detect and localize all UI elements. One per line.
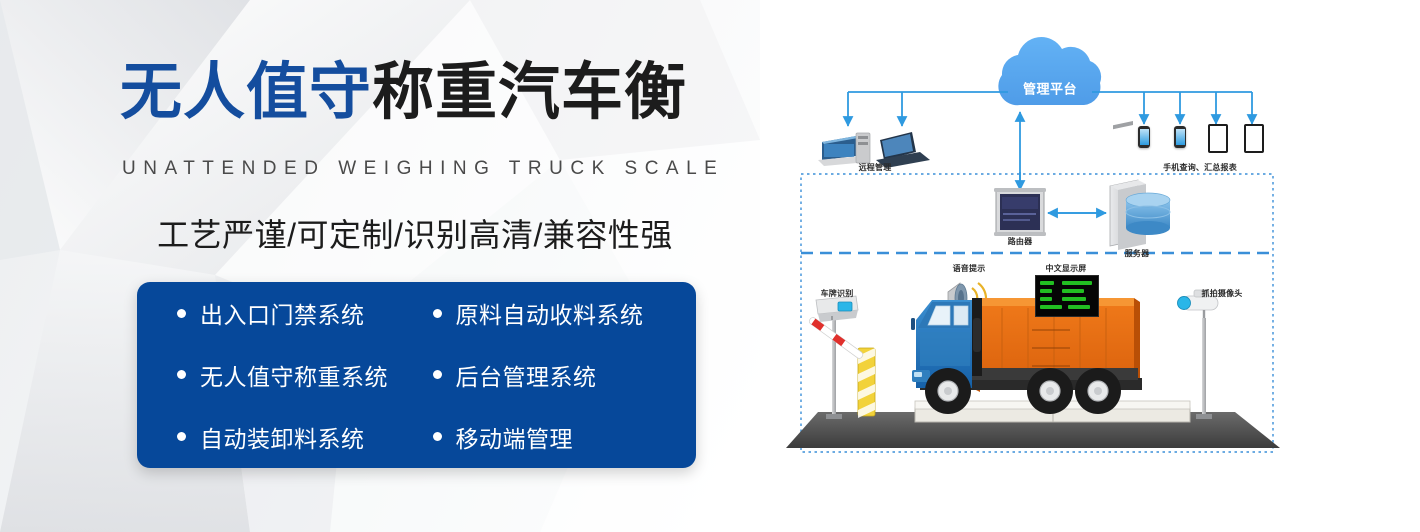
feature-item: 移动端管理 xyxy=(417,406,697,468)
tablet-icon xyxy=(1208,124,1228,153)
page-title: 无人值守称重汽车衡 xyxy=(120,58,687,128)
feature-label: 无人值守称重系统 xyxy=(200,358,388,392)
phone-icon xyxy=(1138,126,1150,148)
feature-label: 自动装卸料系统 xyxy=(200,420,365,454)
router-icon xyxy=(994,188,1046,236)
subtitle-english: UNATTENDED WEIGHING TRUCK SCALE xyxy=(122,158,714,180)
title-highlight: 无人值守 xyxy=(120,58,372,127)
tablet-icon xyxy=(1244,124,1264,153)
tagline: 工艺严谨/可定制/识别高清/兼容性强 xyxy=(120,210,710,256)
feature-label: 移动端管理 xyxy=(456,420,574,454)
dump-truck xyxy=(911,298,1142,414)
feature-item: 出入口门禁系统 xyxy=(137,282,417,344)
unattended-truck-scale-banner: 无人值守称重汽车衡 UNATTENDED WEIGHING TRUCK SCAL… xyxy=(0,0,1420,532)
system-architecture-diagram: 管理平台 远程管理 手机查询、汇总报表 路由器 服务器 车牌识别 语音提示 中文… xyxy=(780,0,1320,532)
label-server: 服务器 xyxy=(1125,248,1150,259)
feature-list-box: 出入口门禁系统 原料自动收料系统 无人值守称重系统 后台管理系统 自动装卸料系统… xyxy=(137,282,696,468)
left-content: 无人值守称重汽车衡 UNATTENDED WEIGHING TRUCK SCAL… xyxy=(0,0,760,532)
bullet-icon xyxy=(433,432,442,441)
label-chinese-display: 中文显示屏 xyxy=(1046,263,1087,274)
feature-item: 无人值守称重系统 xyxy=(137,344,417,406)
bullet-icon xyxy=(433,309,442,318)
feature-item: 原料自动收料系统 xyxy=(417,282,697,344)
feature-item: 后台管理系统 xyxy=(417,344,697,406)
chinese-display-board xyxy=(1035,275,1099,317)
cloud-platform-label: 管理平台 xyxy=(1023,79,1077,98)
bullet-icon xyxy=(177,370,186,379)
barrier-gate xyxy=(808,316,875,418)
label-plate-recognition: 车牌识别 xyxy=(821,288,854,299)
label-voice-prompt: 语音提示 xyxy=(953,263,986,274)
title-rest: 称重汽车衡 xyxy=(372,58,687,127)
bullet-icon xyxy=(177,432,186,441)
feature-item: 自动装卸料系统 xyxy=(137,406,417,468)
label-mobile-query: 手机查询、汇总报表 xyxy=(1163,162,1237,173)
phone-icon xyxy=(1174,126,1186,148)
label-remote-management: 远程管理 xyxy=(859,162,892,173)
feature-label: 原料自动收料系统 xyxy=(456,296,644,330)
feature-label: 后台管理系统 xyxy=(456,358,597,392)
bullet-icon xyxy=(177,309,186,318)
plate-recognition-camera xyxy=(816,296,858,322)
label-router: 路由器 xyxy=(1008,236,1033,247)
bullet-icon xyxy=(433,370,442,379)
label-snapshot-camera: 抓拍摄像头 xyxy=(1202,288,1243,299)
feature-label: 出入口门禁系统 xyxy=(200,296,365,330)
